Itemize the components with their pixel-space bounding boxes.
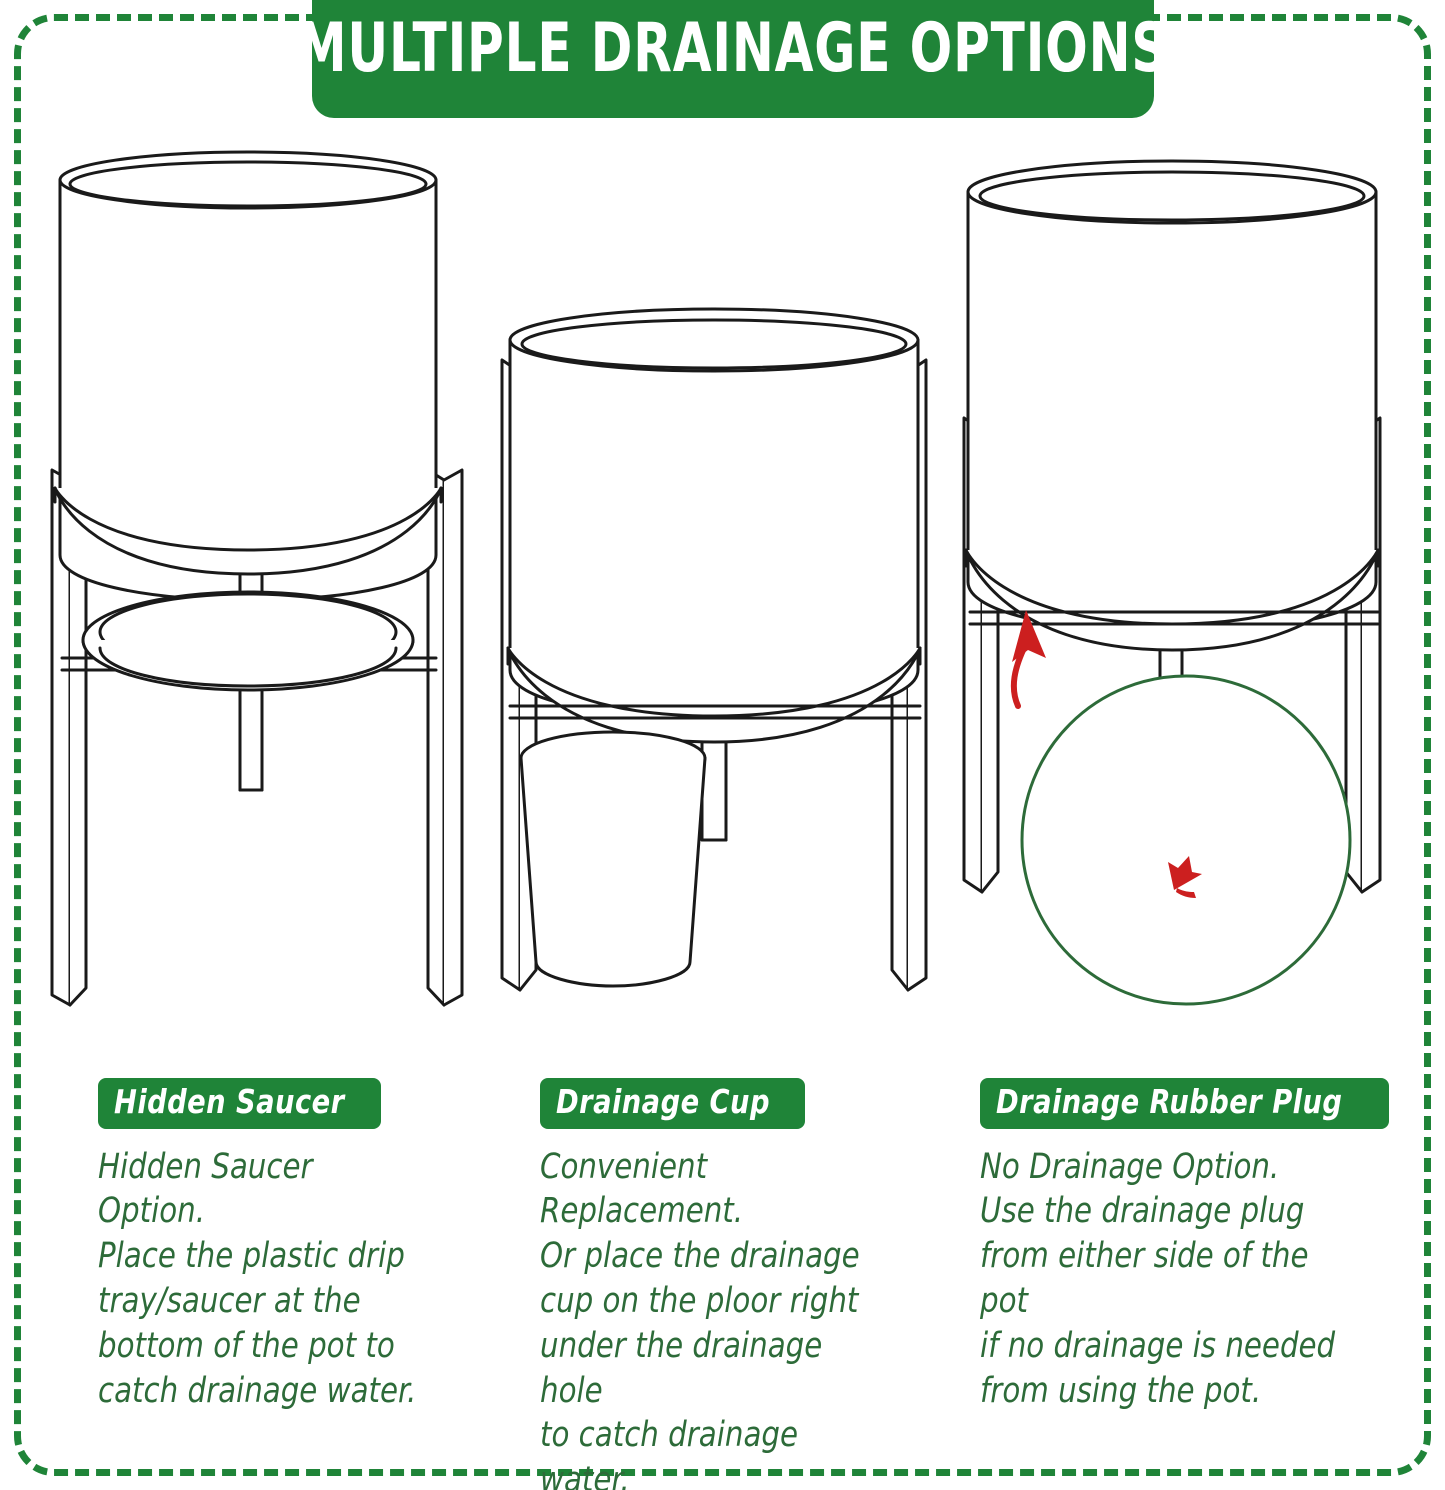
drainage-cup: [521, 732, 705, 986]
caption-body-drainage-rubber-plug: No Drainage Option. Use the drainage plu…: [980, 1145, 1352, 1414]
illustration-hidden-saucer: [22, 150, 492, 1050]
caption-label-drainage-rubber-plug: Drainage Rubber Plug: [980, 1078, 1389, 1129]
caption-label-text: Drainage Cup: [556, 1085, 770, 1120]
hidden-saucer-tray: [83, 592, 413, 690]
caption-label-text: Drainage Rubber Plug: [996, 1085, 1342, 1120]
caption-label-text: Hidden Saucer: [114, 1085, 345, 1120]
illustration-drainage-cup: [480, 150, 950, 1050]
illustration-drainage-rubber-plug: [930, 150, 1410, 1050]
page-title: MULTIPLE DRAINAGE OPTIONS: [297, 15, 1169, 83]
caption-label-hidden-saucer: Hidden Saucer: [98, 1078, 381, 1129]
stand-cradle-ring: [508, 648, 920, 742]
caption-body-hidden-saucer: Hidden Saucer Option. Place the plastic …: [98, 1145, 424, 1414]
caption-column-drainage-rubber-plug: Drainage Rubber Plug No Drainage Option.…: [980, 1078, 1380, 1413]
caption-label-drainage-cup: Drainage Cup: [540, 1078, 805, 1129]
infographic-page: MULTIPLE DRAINAGE OPTIONS: [0, 0, 1445, 1490]
title-banner: MULTIPLE DRAINAGE OPTIONS: [312, 0, 1154, 118]
caption-column-drainage-cup: Drainage Cup Convenient Replacement. Or …: [540, 1078, 900, 1490]
caption-column-hidden-saucer: Hidden Saucer Hidden Saucer Option. Plac…: [98, 1078, 448, 1413]
center-post-lower: [240, 690, 262, 790]
caption-body-drainage-cup: Convenient Replacement. Or place the dra…: [540, 1145, 875, 1490]
magnifier-detail: [1008, 638, 1388, 1004]
